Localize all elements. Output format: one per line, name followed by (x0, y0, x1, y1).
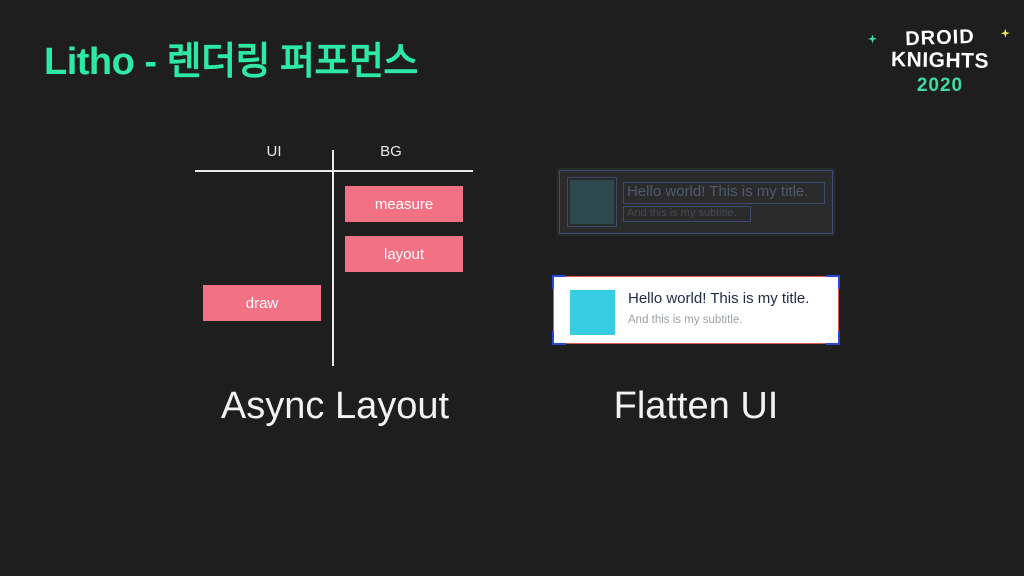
bright-card-title: Hello world! This is my title. (628, 290, 809, 307)
async-layout-diagram: UI BG measure layout draw (195, 138, 475, 368)
bright-preview-card: Hello world! This is my title. And this … (553, 276, 839, 344)
corner-bracket-bottom-left (552, 331, 566, 345)
view-boundary-image (567, 177, 617, 227)
bright-card-image (570, 290, 615, 335)
column-header-bg: BG (331, 143, 451, 160)
droid-knights-logo: DROID KNIGHTS 2020 (880, 28, 1000, 104)
corner-bracket-bottom-right (826, 331, 840, 345)
bright-card-subtitle: And this is my subtitle. (628, 314, 742, 326)
bar-measure: measure (345, 186, 463, 222)
sparkle-green-icon (868, 34, 877, 43)
view-boundary-subtitle (623, 206, 751, 222)
corner-bracket-top-right (826, 275, 840, 289)
column-header-ui: UI (214, 143, 334, 160)
corner-bracket-top-left (552, 275, 566, 289)
logo-knights-text: KNIGHTS (880, 48, 1000, 73)
column-divider (332, 150, 334, 366)
caption-flatten-ui: Flatten UI (553, 385, 839, 428)
view-boundary-title (623, 182, 825, 204)
caption-async-layout: Async Layout (195, 385, 475, 428)
logo-year-text: 2020 (880, 75, 1000, 97)
bar-layout: layout (345, 236, 463, 272)
header-divider (195, 170, 473, 172)
page-title: Litho - 렌더링 퍼포먼스 (44, 30, 418, 85)
logo-droid-text: DROID (905, 26, 975, 50)
sparkle-yellow-icon (1001, 29, 1010, 38)
bar-draw: draw (203, 285, 321, 321)
dimmed-preview-card: Hello world! This is my title. And this … (557, 168, 835, 236)
